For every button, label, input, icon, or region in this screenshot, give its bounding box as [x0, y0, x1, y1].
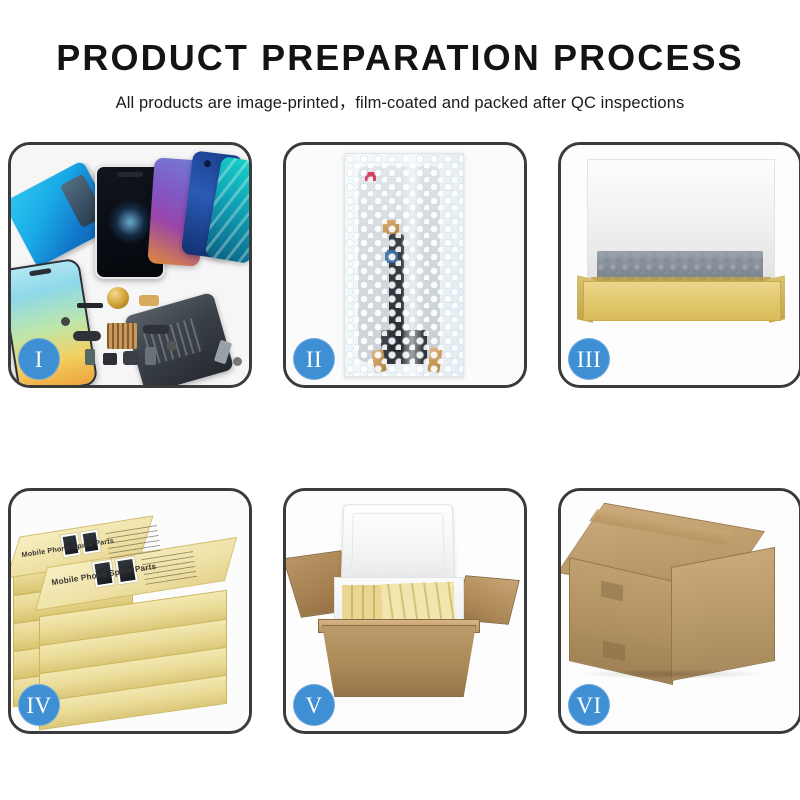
carton-shadow	[577, 669, 767, 679]
page-title: PRODUCT PREPARATION PROCESS	[0, 0, 800, 77]
plastic-sheen	[401, 154, 423, 376]
component-part-image	[145, 347, 156, 365]
yellow-box-front-image	[583, 281, 781, 321]
component-part-image	[139, 295, 159, 306]
component-part-image	[123, 351, 139, 365]
step-badge-3: III	[568, 338, 610, 380]
component-part-image	[77, 303, 103, 308]
page-subtitle: All products are image-printed，film-coat…	[0, 77, 800, 113]
component-part-image	[103, 353, 117, 365]
step-badge-4: IV	[18, 684, 60, 726]
step-badge-2: II	[293, 338, 335, 380]
step-badge-1: I	[18, 338, 60, 380]
component-part-image	[233, 357, 242, 366]
step-badge-5: V	[293, 684, 335, 726]
component-part-image	[61, 317, 70, 326]
carton-flap-right-image	[454, 575, 520, 624]
process-step-card-3[interactable]: III	[558, 142, 800, 388]
step-badge-6: VI	[568, 684, 610, 726]
process-step-card-6[interactable]: VI	[558, 488, 800, 734]
component-part-image	[167, 341, 176, 350]
process-step-card-5[interactable]: V	[283, 488, 527, 734]
process-step-card-2[interactable]: II	[283, 142, 527, 388]
component-part-image	[85, 349, 95, 365]
foam-lid-image	[341, 504, 456, 583]
product-preparation-infographic: PRODUCT PREPARATION PROCESS All products…	[0, 0, 800, 800]
component-part-image	[143, 325, 169, 334]
process-step-card-1[interactable]: I	[8, 142, 252, 388]
component-part-image	[73, 331, 101, 341]
component-part-image	[107, 323, 137, 349]
carton-right-face-image	[671, 547, 775, 681]
process-step-card-4[interactable]: Mobile Phone Spare Parts Mobile Phone Sp…	[8, 488, 252, 734]
carton-front-image	[322, 625, 476, 697]
header: PRODUCT PREPARATION PROCESS All products…	[0, 0, 800, 113]
component-part-image	[107, 287, 129, 309]
bubble-wrap-bag-image	[344, 153, 464, 377]
process-step-grid: I II	[8, 142, 792, 734]
